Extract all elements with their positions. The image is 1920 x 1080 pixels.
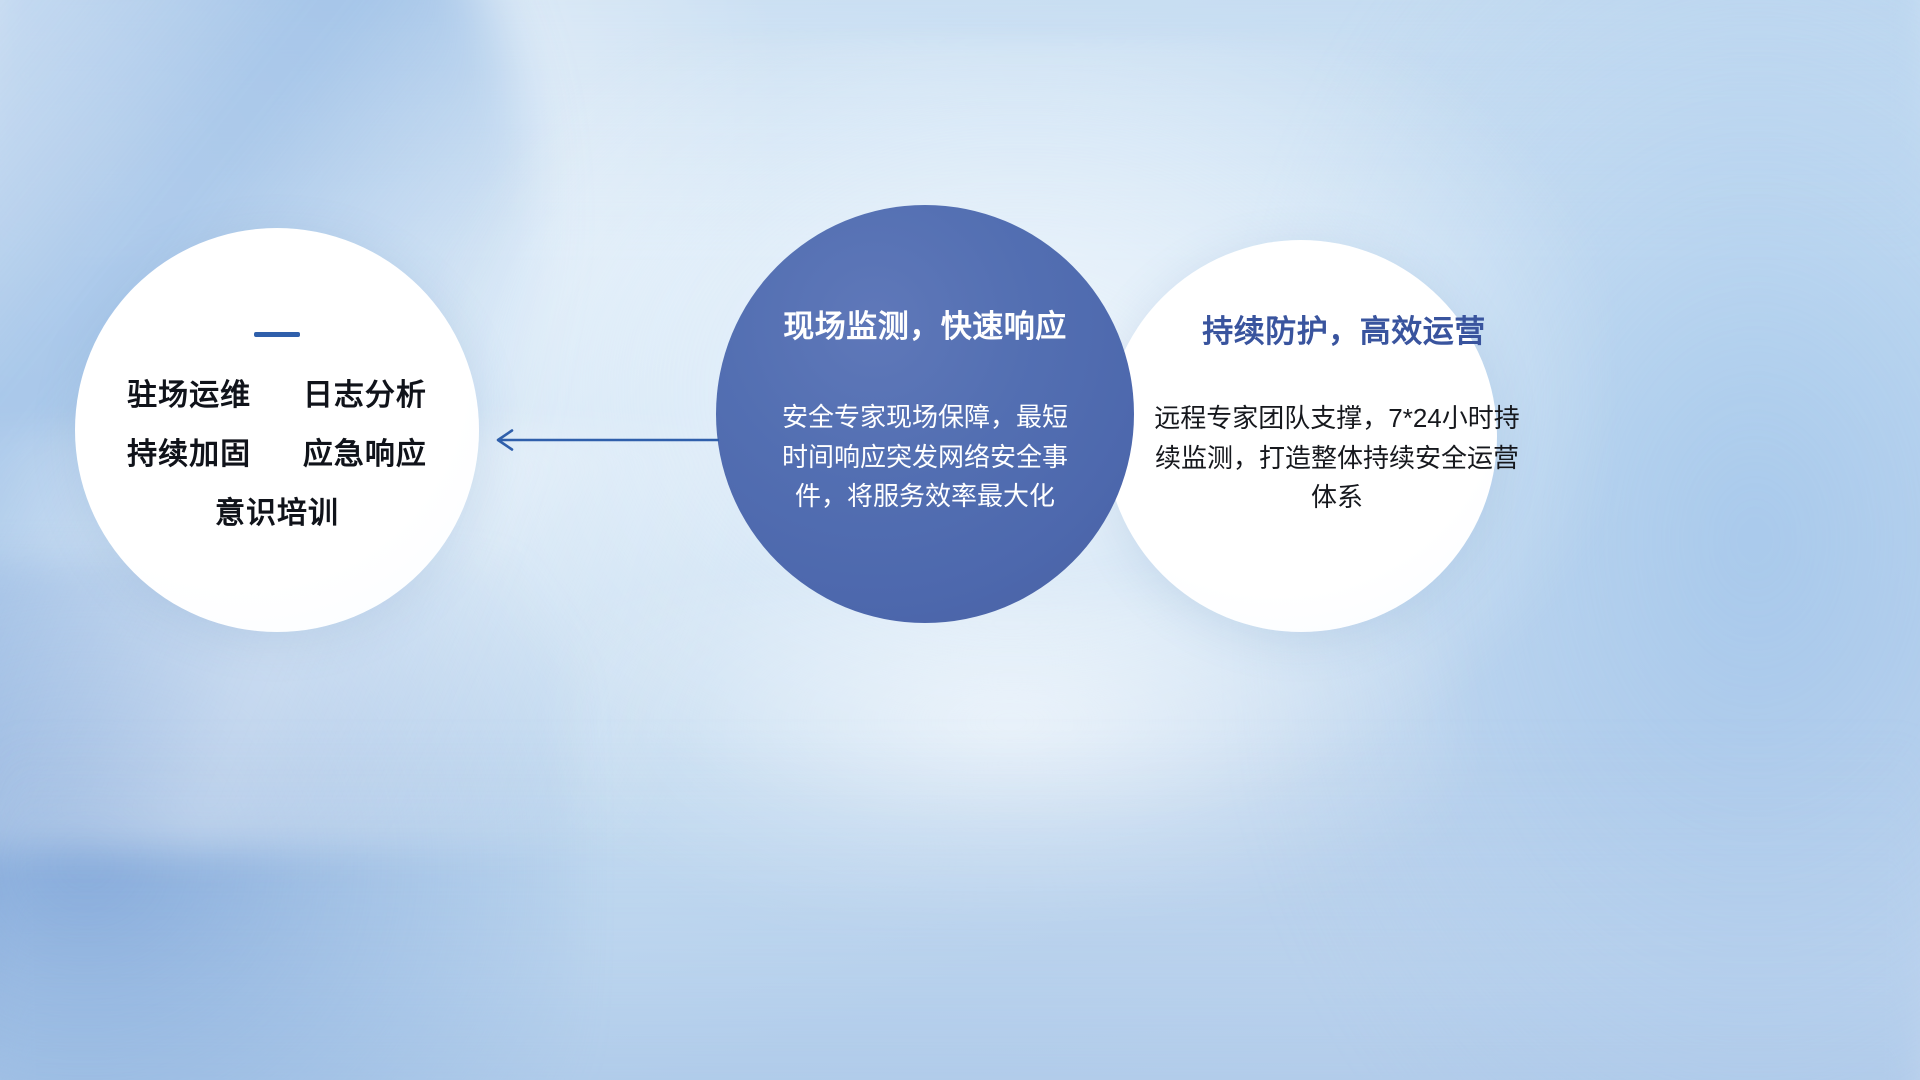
- list-item: 持续加固 应急响应: [127, 440, 427, 470]
- capability-label: 应急响应: [303, 438, 427, 471]
- capabilities-circle[interactable]: 驻场运维 日志分析 持续加固 应急响应 意识培训: [75, 228, 479, 632]
- capabilities-list: 驻场运维 日志分析 持续加固 应急响应 意识培训: [127, 381, 427, 529]
- card-title: 持续防护，高效运营: [1202, 306, 1486, 351]
- list-item: 意识培训: [127, 499, 427, 529]
- card-body: 安全专家现场保障，最短时间响应突发网络安全事件，将服务效率最大化: [775, 398, 1075, 517]
- divider-dash: [254, 332, 300, 337]
- card-body: 远程专家团队支撑，7*24小时持续监测，打造整体持续安全运营体系: [1151, 399, 1523, 518]
- list-item: 驻场运维 日志分析: [127, 381, 427, 411]
- capability-label: 驻场运维: [127, 379, 251, 412]
- diagram-canvas: 驻场运维 日志分析 持续加固 应急响应 意识培训 持续防护，高效运营 远程专家团…: [0, 0, 1920, 1080]
- continuous-protection-circle[interactable]: 持续防护，高效运营 远程专家团队支撑，7*24小时持续监测，打造整体持续安全运营…: [1105, 240, 1497, 632]
- flow-arrow: [488, 424, 720, 456]
- capability-label: 日志分析: [303, 379, 427, 412]
- arrow-left-icon: [488, 424, 720, 456]
- card-title: 现场监测，快速响应: [783, 301, 1067, 346]
- onsite-monitoring-circle[interactable]: 现场监测，快速响应 安全专家现场保障，最短时间响应突发网络安全事件，将服务效率最…: [716, 205, 1134, 623]
- capability-label: 持续加固: [127, 438, 251, 471]
- capability-label: 意识培训: [215, 497, 339, 530]
